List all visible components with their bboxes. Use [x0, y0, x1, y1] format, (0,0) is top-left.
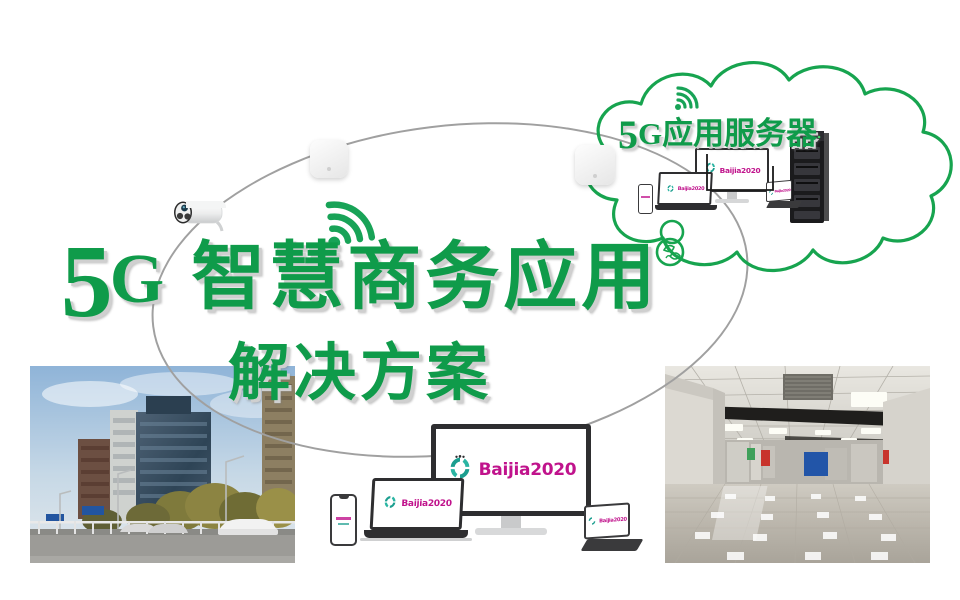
- baijia-logo-bottom-laptop: Baijia2020: [382, 494, 452, 515]
- phone-notch: [339, 496, 349, 499]
- cloud-title: 5G应用服务器: [618, 108, 817, 158]
- poster-canvas: Baijia2020 Baijia2020: [0, 0, 960, 600]
- bottom-tablet-keyboard: [581, 539, 644, 551]
- photo-mall-interior: [665, 366, 930, 563]
- phone-screen-line-2: [338, 523, 349, 525]
- baijia-wordmark-bottom-laptop: Baijia2020: [401, 499, 452, 509]
- eco-leaf-icon: [648, 218, 696, 270]
- ap-led-2: [593, 174, 597, 178]
- cloud-connector-lines: [655, 150, 815, 210]
- baijia-wordmark-bottom-tablet: Baijia2020: [599, 517, 627, 525]
- cloud-smartphone: [638, 184, 653, 214]
- bottom-monitor-base: [475, 528, 547, 535]
- cloud-title-cn: 应用服务器: [662, 116, 817, 151]
- baijia-logo-bottom-tablet: Baijia2020: [587, 511, 627, 532]
- bottom-laptop: Baijia2020: [364, 478, 468, 542]
- wireless-access-point-2: [575, 145, 615, 185]
- bottom-tablet: Baijia2020: [578, 504, 640, 556]
- ap-led-1: [327, 167, 331, 171]
- phone-screen-content: [336, 517, 351, 520]
- phone-screen-line: [641, 196, 650, 198]
- cctv-camera-icon: [166, 193, 230, 239]
- cloud-title-g: G: [638, 116, 662, 151]
- baijia-mark-icon-bottom-tablet: [587, 513, 597, 532]
- title-5: 5: [61, 224, 114, 339]
- baijia-mark-icon-bottom-laptop: [382, 494, 399, 515]
- bottom-tablet-screen: Baijia2020: [584, 502, 630, 539]
- bottom-laptop-screen: Baijia2020: [370, 478, 465, 530]
- bottom-laptop-foot: [360, 538, 472, 541]
- bottom-smartphone: [330, 494, 357, 546]
- baijia-wordmark-bottom: Baijia2020: [479, 460, 577, 480]
- wireless-access-point-1: [310, 140, 348, 178]
- bottom-monitor-stand: [501, 516, 521, 528]
- bottom-laptop-base: [364, 530, 468, 538]
- wifi-signal-icon: [322, 196, 384, 252]
- cloud-title-5: 5: [618, 112, 638, 157]
